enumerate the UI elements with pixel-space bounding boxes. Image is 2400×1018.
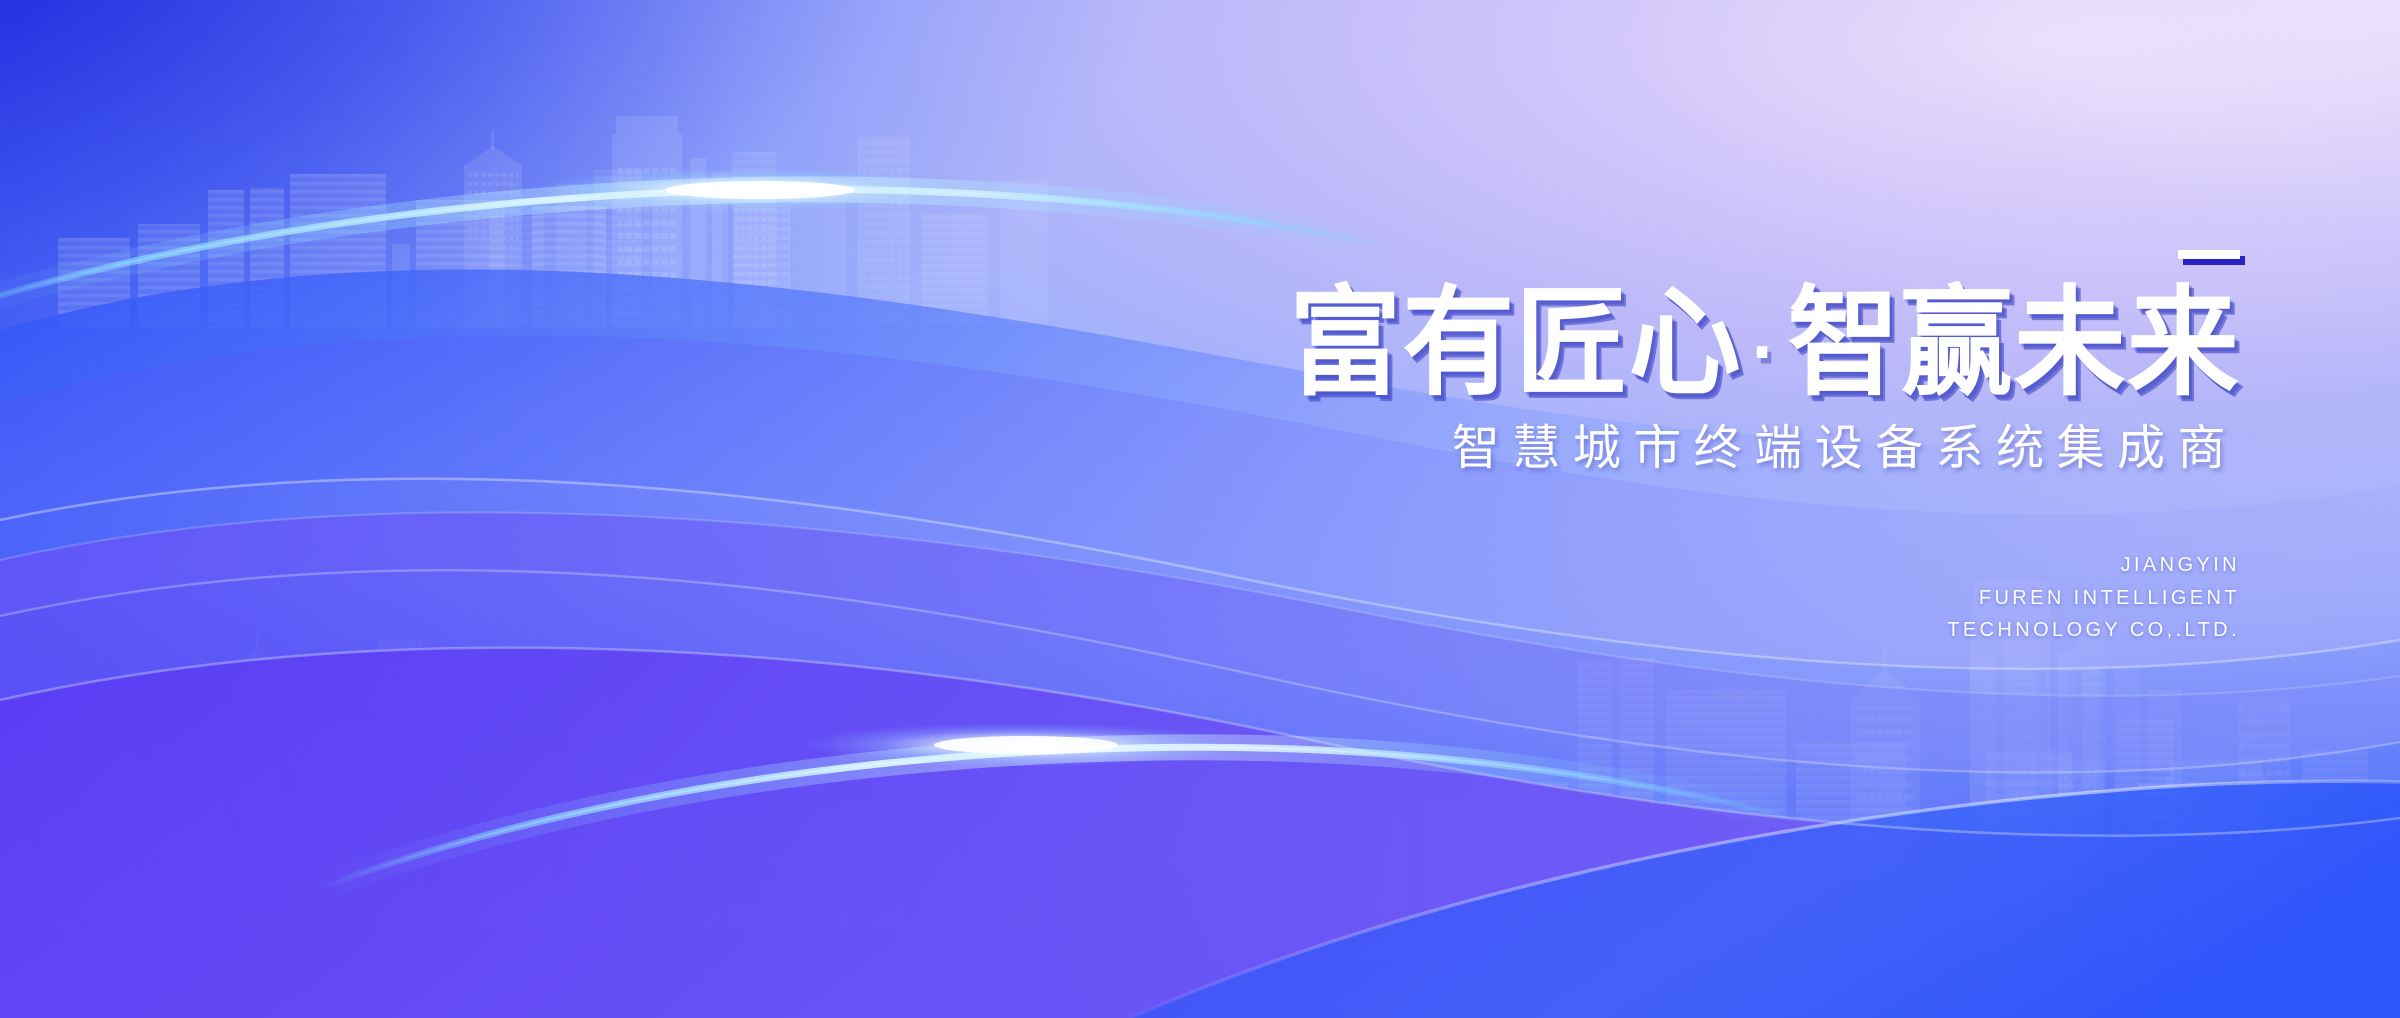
city-skyline-icon-top-left <box>40 38 800 328</box>
banner-root: 富有匠心·智赢未来 智慧城市终端设备系统集成商 JIANGYIN FUREN I… <box>0 0 2400 1018</box>
page-title: 富有匠心·智赢未来 <box>1120 282 2240 405</box>
glow-arc-icon-lower <box>320 720 1820 910</box>
page-subtitle: 智慧城市终端设备系统集成商 <box>1120 419 2240 479</box>
city-skyline-icon-bottom-left <box>0 600 860 930</box>
company-name-block: JIANGYIN FUREN INTELLIGENT TECHNOLOGY CO… <box>1120 549 2240 646</box>
horizontal-dash-icon <box>2178 250 2240 259</box>
company-name-line-3: TECHNOLOGY CO,.LTD. <box>1120 614 2240 646</box>
company-name-line-2: FUREN INTELLIGENT <box>1120 582 2240 614</box>
company-name-line-1: JIANGYIN <box>1120 549 2240 581</box>
city-skyline-icon-top-middle <box>470 96 1070 324</box>
banner-text-block: 富有匠心·智赢未来 智慧城市终端设备系统集成商 JIANGYIN FUREN I… <box>1120 250 2240 647</box>
city-skyline-icon-far-right <box>2050 640 2400 940</box>
city-skyline-icon-mid-left <box>600 700 1160 930</box>
headline-separator-dot-icon: · <box>1742 312 1788 394</box>
headline-part-1: 富有匠心 <box>1289 277 1741 409</box>
headline-part-2: 智赢未来 <box>1788 277 2240 409</box>
accent-dash-wrapper <box>1120 250 2240 259</box>
